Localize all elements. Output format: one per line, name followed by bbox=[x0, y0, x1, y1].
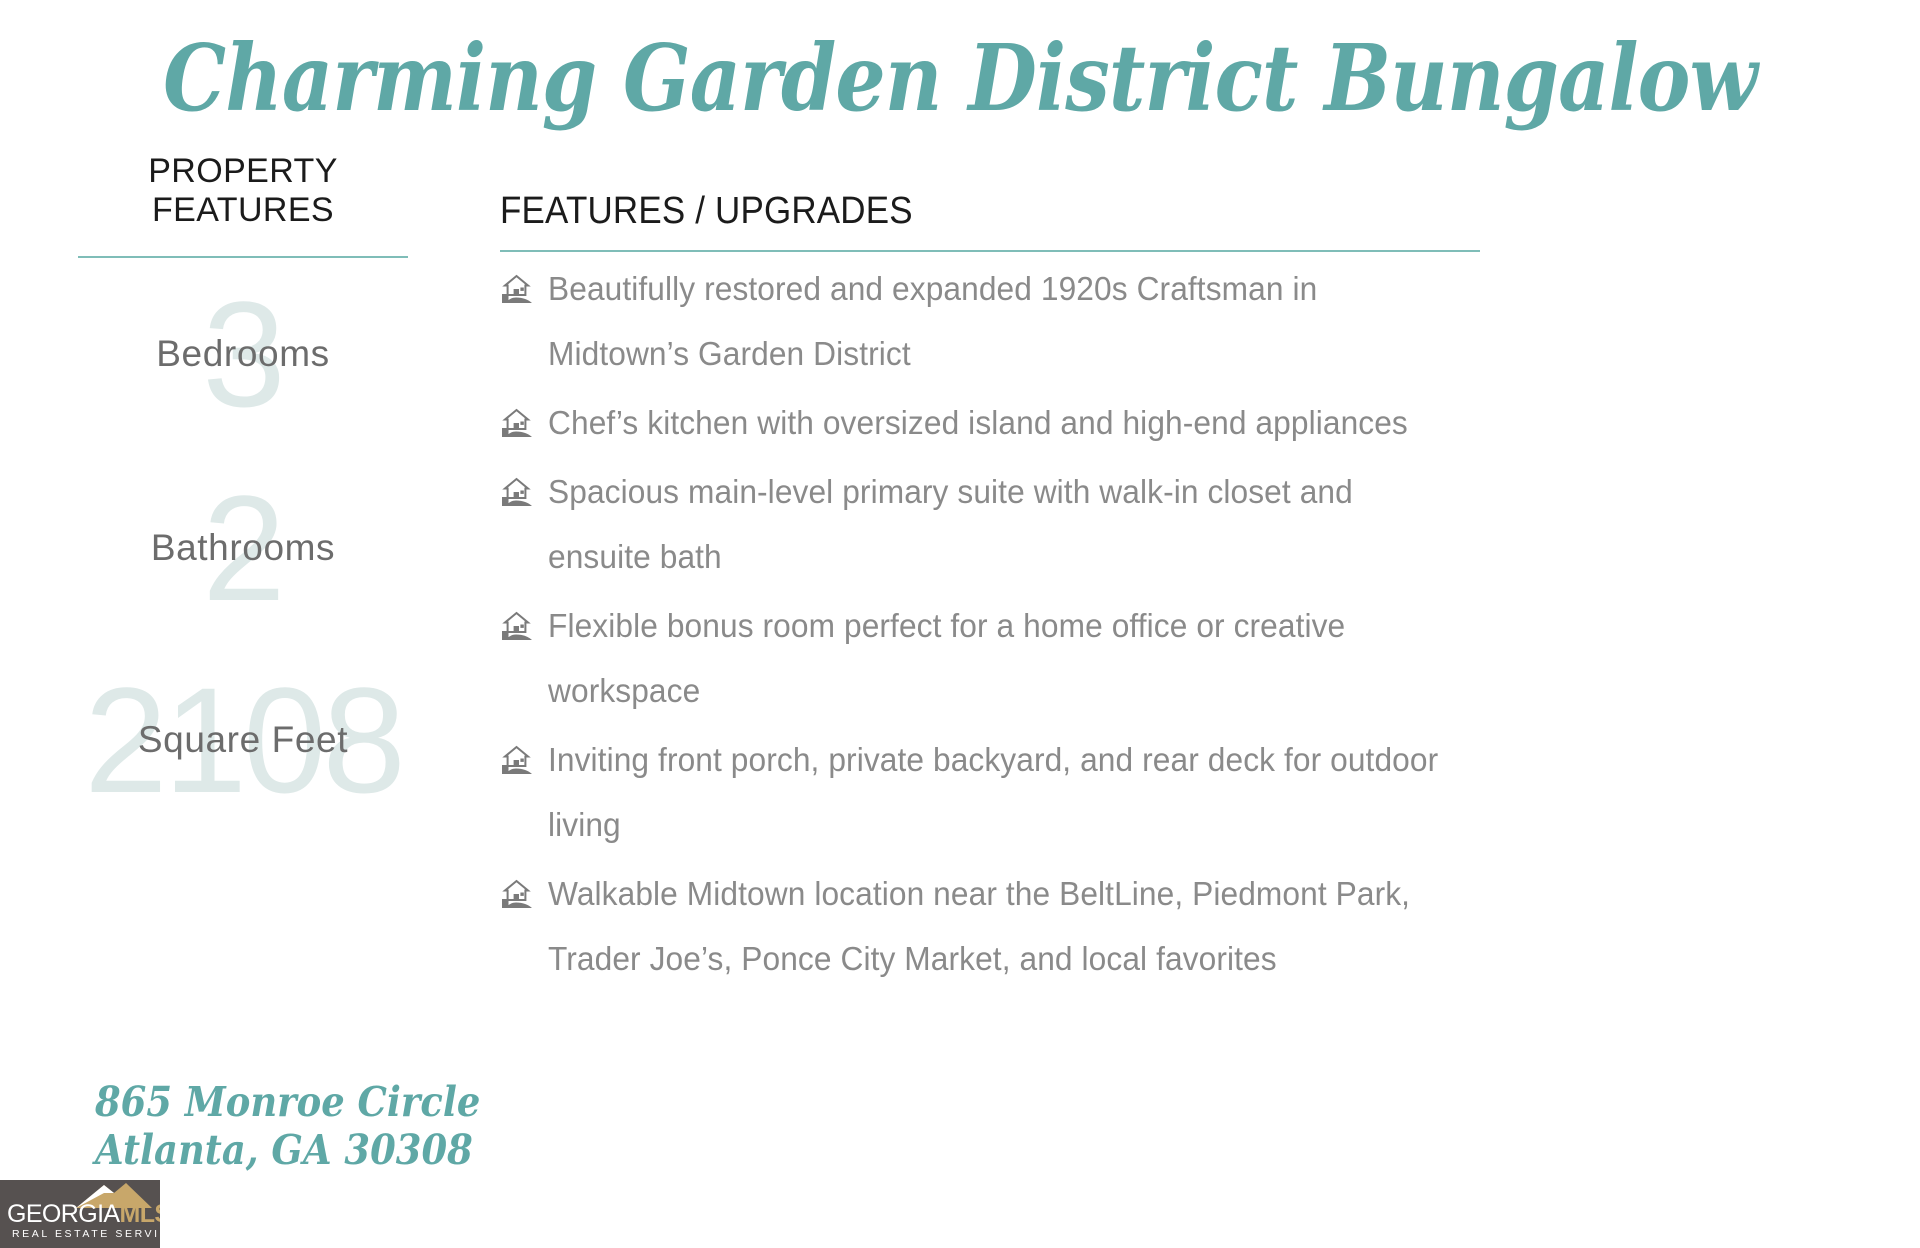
feature-text: Beautifully restored and expanded 1920s … bbox=[548, 256, 1460, 386]
property-features-sidebar: PROPERTY FEATURES 3 Bedrooms 2 Bathrooms… bbox=[78, 152, 408, 738]
mls-brand-secondary: MLS bbox=[120, 1200, 161, 1228]
address-street: 865 Monroe Circle bbox=[95, 1078, 401, 1126]
house-in-hand-icon bbox=[500, 406, 534, 440]
feature-list-item: Walkable Midtown location near the BeltL… bbox=[500, 861, 1900, 991]
feature-text: Spacious main-level primary suite with w… bbox=[548, 459, 1460, 589]
house-in-hand-icon bbox=[500, 877, 534, 911]
feature-text: Chef’s kitchen with oversized island and… bbox=[548, 390, 1408, 455]
features-upgrades-panel: FEATURES / UPGRADES Beautifully restored… bbox=[500, 190, 1900, 991]
feature-text: Flexible bonus room perfect for a home o… bbox=[548, 593, 1460, 723]
stat-bedrooms: 3 Bedrooms bbox=[78, 274, 408, 434]
mls-brand-primary: GEORGIA bbox=[7, 1200, 120, 1228]
sidebar-heading-line-2: FEATURES bbox=[78, 191, 408, 230]
stat-bathrooms: 2 Bathrooms bbox=[78, 468, 408, 628]
feature-list: Beautifully restored and expanded 1920s … bbox=[500, 256, 1900, 991]
features-heading: FEATURES / UPGRADES bbox=[500, 190, 1788, 233]
property-address: 865 Monroe Circle Atlanta, GA 30308 bbox=[95, 1078, 401, 1175]
feature-list-item: Spacious main-level primary suite with w… bbox=[500, 459, 1900, 589]
feature-list-item: Inviting front porch, private backyard, … bbox=[500, 727, 1900, 857]
features-divider bbox=[500, 250, 1480, 252]
house-in-hand-icon bbox=[500, 475, 534, 509]
mls-wordmark: GEORGIAMLS bbox=[7, 1200, 160, 1229]
house-in-hand-icon bbox=[500, 609, 534, 643]
mls-tagline: REAL ESTATE SERVICES bbox=[12, 1228, 160, 1240]
feature-list-item: Chef’s kitchen with oversized island and… bbox=[500, 390, 1900, 455]
page-title: Charming Garden District Bungalow bbox=[134, 30, 1785, 127]
feature-text: Walkable Midtown location near the BeltL… bbox=[548, 861, 1460, 991]
stat-bathrooms-label: Bathrooms bbox=[151, 527, 335, 569]
sidebar-heading: PROPERTY FEATURES bbox=[78, 152, 408, 230]
feature-text: Inviting front porch, private backyard, … bbox=[548, 727, 1460, 857]
stat-square-feet-label: Square Feet bbox=[138, 719, 348, 761]
georgia-mls-logo: GEORGIAMLS REAL ESTATE SERVICES bbox=[0, 1180, 160, 1248]
sidebar-heading-line-1: PROPERTY bbox=[78, 152, 408, 191]
sidebar-divider bbox=[78, 256, 408, 258]
address-city-state-zip: Atlanta, GA 30308 bbox=[95, 1126, 401, 1174]
feature-list-item: Beautifully restored and expanded 1920s … bbox=[500, 256, 1900, 386]
stat-bedrooms-label: Bedrooms bbox=[156, 333, 329, 375]
house-in-hand-icon bbox=[500, 272, 534, 306]
stat-square-feet: 2108 Square Feet bbox=[78, 660, 408, 820]
feature-list-item: Flexible bonus room perfect for a home o… bbox=[500, 593, 1900, 723]
house-in-hand-icon bbox=[500, 743, 534, 777]
